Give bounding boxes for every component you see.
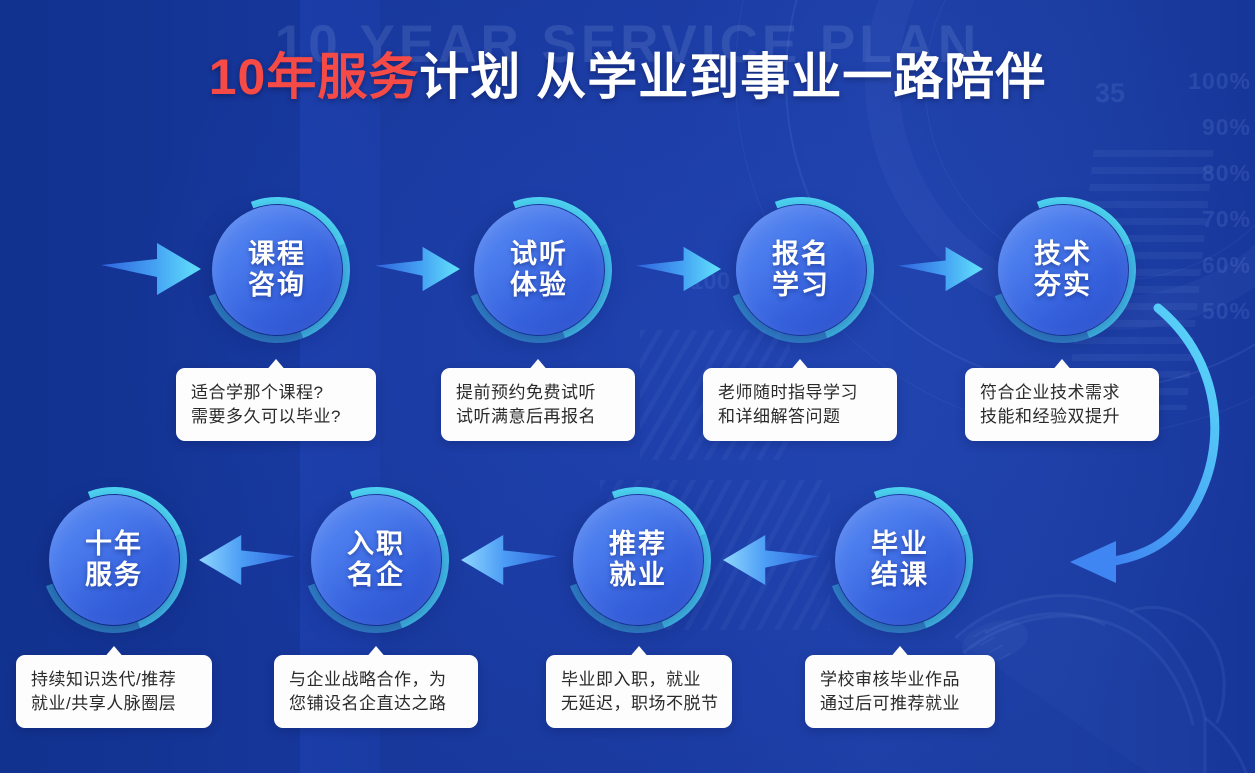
callout-line2: 和详细解答问题 (718, 405, 882, 429)
arrow-step-6-to-step-7 (461, 534, 557, 586)
node-label-line2: 结课 (871, 560, 929, 591)
node-circle: 入职 名企 (311, 495, 441, 625)
node-label-line2: 服务 (85, 560, 143, 591)
callout-step-6: 毕业即入职，就业 无延迟，职场不脱节 (546, 655, 732, 728)
arrow-into-step-1 (101, 243, 201, 295)
node-label-line1: 推荐 (609, 529, 667, 560)
callout-line2: 通过后可推荐就业 (820, 692, 980, 716)
infographic-canvas: 100% 90% 80% 70% 60% 50% 35 100 100 10 Y… (0, 0, 1255, 773)
node-label-line1: 报名 (772, 239, 830, 270)
page-title-rest: 计划 从学业到事业一路陪伴 (419, 49, 1046, 105)
page-title-accent: 10年服务 (209, 49, 420, 105)
flow-node-step-2[interactable]: 试听 体验 (474, 205, 604, 335)
flow-node-step-4[interactable]: 技术 夯实 (998, 205, 1128, 335)
node-label-line2: 就业 (609, 560, 667, 591)
callout-line1: 符合企业技术需求 (980, 381, 1144, 405)
node-label-line2: 体验 (510, 270, 568, 301)
node-circle: 推荐 就业 (573, 495, 703, 625)
callout-line1: 持续知识迭代/推荐 (31, 668, 197, 692)
callout-line2: 需要多久可以毕业? (191, 405, 361, 429)
arrow-step-5-to-step-6 (723, 534, 819, 586)
arrow-step-3-to-step-4 (898, 243, 983, 295)
flow-node-step-1[interactable]: 课程 咨询 (212, 205, 342, 335)
callout-step-2: 提前预约免费试听 试听满意后再报名 (441, 368, 635, 441)
callout-line1: 适合学那个课程? (191, 381, 361, 405)
gauge-label-60: 60% (1188, 254, 1251, 277)
node-label-line2: 名企 (347, 560, 405, 591)
flow-node-step-7[interactable]: 入职 名企 (311, 495, 441, 625)
callout-step-7: 与企业战略合作，为 您铺设名企直达之路 (274, 655, 478, 728)
callout-line2: 试听满意后再报名 (456, 405, 620, 429)
callout-line1: 老师随时指导学习 (718, 381, 882, 405)
callout-line1: 提前预约免费试听 (456, 381, 620, 405)
gauge-label-90: 90% (1188, 116, 1251, 139)
arrow-step-1-to-step-2 (375, 243, 460, 295)
node-circle: 试听 体验 (474, 205, 604, 335)
node-circle: 课程 咨询 (212, 205, 342, 335)
node-label-line1: 课程 (248, 239, 306, 270)
flow-node-step-3[interactable]: 报名 学习 (736, 205, 866, 335)
node-label-line2: 夯实 (1034, 270, 1092, 301)
callout-line2: 就业/共享人脉圈层 (31, 692, 197, 716)
gauge-label-50: 50% (1188, 300, 1251, 323)
curved-connector-arrow (1050, 300, 1255, 600)
arrow-step-7-to-step-8 (199, 534, 295, 586)
node-label-line2: 咨询 (248, 270, 306, 301)
flow-node-step-6[interactable]: 推荐 就业 (573, 495, 703, 625)
callout-step-3: 老师随时指导学习 和详细解答问题 (703, 368, 897, 441)
gauge-label-70: 70% (1188, 208, 1251, 231)
page-title: 10年服务计划 从学业到事业一路陪伴 (0, 37, 1255, 109)
callout-step-1: 适合学那个课程? 需要多久可以毕业? (176, 368, 376, 441)
flow-node-step-5[interactable]: 毕业 结课 (835, 495, 965, 625)
node-label-line1: 入职 (347, 529, 405, 560)
node-circle: 技术 夯实 (998, 205, 1128, 335)
callout-line2: 技能和经验双提升 (980, 405, 1144, 429)
callout-step-8: 持续知识迭代/推荐 就业/共享人脉圈层 (16, 655, 212, 728)
node-label-line1: 技术 (1034, 239, 1092, 270)
node-label-line1: 毕业 (871, 529, 929, 560)
gauge-percent-labels: 100% 90% 80% 70% 60% 50% (1188, 70, 1251, 346)
callout-step-4: 符合企业技术需求 技能和经验双提升 (965, 368, 1159, 441)
callout-line1: 毕业即入职，就业 (561, 668, 717, 692)
node-label-line2: 学习 (772, 270, 830, 301)
flow-node-step-8[interactable]: 十年 服务 (49, 495, 179, 625)
gauge-label-80: 80% (1188, 162, 1251, 185)
callout-step-5: 学校审核毕业作品 通过后可推荐就业 (805, 655, 995, 728)
callout-line2: 无延迟，职场不脱节 (561, 692, 717, 716)
callout-line1: 学校审核毕业作品 (820, 668, 980, 692)
node-circle: 毕业 结课 (835, 495, 965, 625)
robot-hand-image (955, 533, 1255, 773)
callout-line1: 与企业战略合作，为 (289, 668, 463, 692)
node-circle: 报名 学习 (736, 205, 866, 335)
node-label-line1: 十年 (85, 529, 143, 560)
node-circle: 十年 服务 (49, 495, 179, 625)
arrow-step-2-to-step-3 (636, 243, 721, 295)
node-label-line1: 试听 (510, 239, 568, 270)
gauge-tick-100-mid: 100 (690, 268, 730, 296)
callout-line2: 您铺设名企直达之路 (289, 692, 463, 716)
